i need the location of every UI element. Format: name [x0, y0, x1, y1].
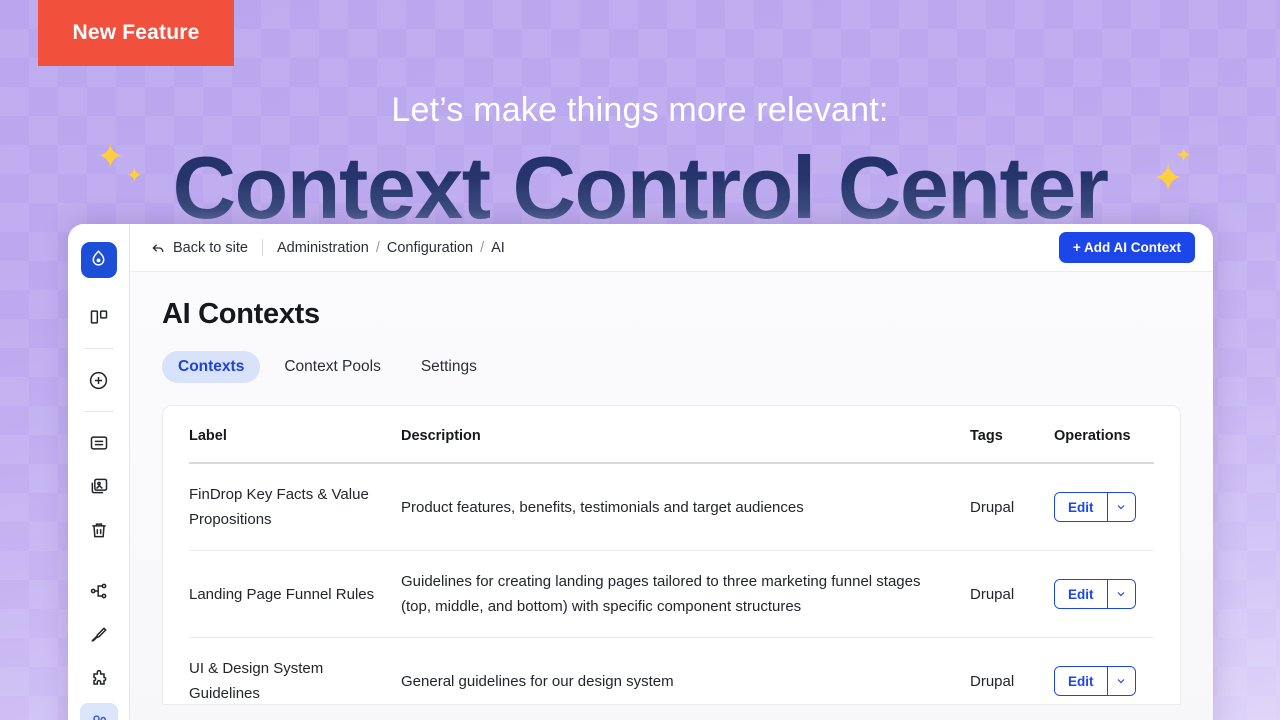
sidebar-item-kanban[interactable]: [80, 299, 118, 337]
sidebar-item-content[interactable]: [80, 424, 118, 462]
edit-button[interactable]: Edit: [1055, 667, 1107, 695]
drupal-droplet-logo[interactable]: [81, 242, 117, 278]
edit-button-group[interactable]: Edit: [1054, 492, 1136, 522]
new-feature-badge-label: New Feature: [72, 21, 199, 45]
cell-label: FinDrop Key Facts & Value Propositions: [189, 463, 401, 551]
sidebar-item-appearance[interactable]: [80, 616, 118, 654]
sidebar-item-extend[interactable]: [80, 660, 118, 698]
sidebar-item-add[interactable]: [80, 361, 118, 399]
breadcrumb-item-administration[interactable]: Administration: [277, 240, 369, 256]
breadcrumb-separator: /: [480, 240, 484, 256]
breadcrumb-separator: /: [376, 240, 380, 256]
tab-contexts[interactable]: Contexts: [162, 351, 260, 383]
cell-description: General guidelines for our design system: [401, 638, 970, 706]
breadcrumb-divider: [262, 239, 263, 256]
table-body: FinDrop Key Facts & Value Propositions P…: [189, 463, 1154, 705]
table-head: Label Description Tags Operations: [189, 406, 1154, 463]
top-toolbar: Back to site Administration / Configurat…: [130, 224, 1213, 272]
cell-label: UI & Design System Guidelines: [189, 638, 401, 706]
back-to-site-link[interactable]: Back to site: [150, 240, 248, 256]
cell-description: Guidelines for creating landing pages ta…: [401, 551, 970, 638]
cell-tags: Drupal: [970, 638, 1054, 706]
column-header-description: Description: [401, 406, 970, 463]
table-row: Landing Page Funnel Rules Guidelines for…: [189, 551, 1154, 638]
hero-subtitle: Let’s make things more relevant:: [0, 88, 1280, 132]
app-window: Back to site Administration / Configurat…: [68, 224, 1213, 720]
hero-section: Let’s make things more relevant: ✦ ✦ Con…: [0, 88, 1280, 238]
column-header-label: Label: [189, 406, 401, 463]
table-row: UI & Design System Guidelines General gu…: [189, 638, 1154, 706]
cell-operations: Edit: [1054, 638, 1154, 706]
edit-button-group[interactable]: Edit: [1054, 666, 1136, 696]
page-content: AI Contexts Contexts Context Pools Setti…: [130, 272, 1213, 720]
hero-title: Context Control Center: [0, 138, 1280, 238]
hero-title-wrapper: ✦ ✦ Context Control Center ✦ ✦: [0, 138, 1280, 238]
cell-description: Product features, benefits, testimonials…: [401, 463, 970, 551]
table-row: FinDrop Key Facts & Value Propositions P…: [189, 463, 1154, 551]
table-header-row: Label Description Tags Operations: [189, 406, 1154, 463]
cell-tags: Drupal: [970, 551, 1054, 638]
new-feature-badge: New Feature: [38, 0, 234, 66]
breadcrumb-item-configuration[interactable]: Configuration: [387, 240, 473, 256]
sidebar-divider: [84, 411, 114, 412]
sidebar-item-people[interactable]: [80, 703, 118, 720]
admin-sidebar: [68, 224, 130, 720]
contexts-table: Label Description Tags Operations FinDro…: [189, 406, 1154, 705]
sidebar-item-media[interactable]: [80, 467, 118, 505]
main-area: Back to site Administration / Configurat…: [130, 224, 1213, 720]
edit-button[interactable]: Edit: [1055, 493, 1107, 521]
sidebar-item-trash[interactable]: [80, 511, 118, 549]
cell-operations: Edit: [1054, 463, 1154, 551]
cell-label: Landing Page Funnel Rules: [189, 551, 401, 638]
cell-operations: Edit: [1054, 551, 1154, 638]
column-header-tags: Tags: [970, 406, 1054, 463]
column-header-operations: Operations: [1054, 406, 1154, 463]
chevron-down-icon[interactable]: [1107, 667, 1135, 695]
breadcrumb: Back to site Administration / Configurat…: [150, 239, 505, 256]
edit-button[interactable]: Edit: [1055, 580, 1107, 608]
tab-settings[interactable]: Settings: [405, 351, 493, 383]
edit-button-group[interactable]: Edit: [1054, 579, 1136, 609]
add-ai-context-button[interactable]: + Add AI Context: [1059, 232, 1195, 263]
breadcrumb-item-ai[interactable]: AI: [491, 240, 505, 256]
tab-context-pools[interactable]: Context Pools: [268, 351, 397, 383]
sidebar-item-structure[interactable]: [80, 573, 118, 611]
page-title: AI Contexts: [162, 298, 1181, 331]
chevron-down-icon[interactable]: [1107, 493, 1135, 521]
page-tabs: Contexts Context Pools Settings: [162, 351, 1181, 383]
back-arrow-icon: [150, 240, 166, 256]
back-to-site-label: Back to site: [173, 240, 248, 256]
chevron-down-icon[interactable]: [1107, 580, 1135, 608]
sidebar-divider: [84, 348, 114, 349]
cell-tags: Drupal: [970, 463, 1054, 551]
contexts-table-card: Label Description Tags Operations FinDro…: [162, 405, 1181, 705]
